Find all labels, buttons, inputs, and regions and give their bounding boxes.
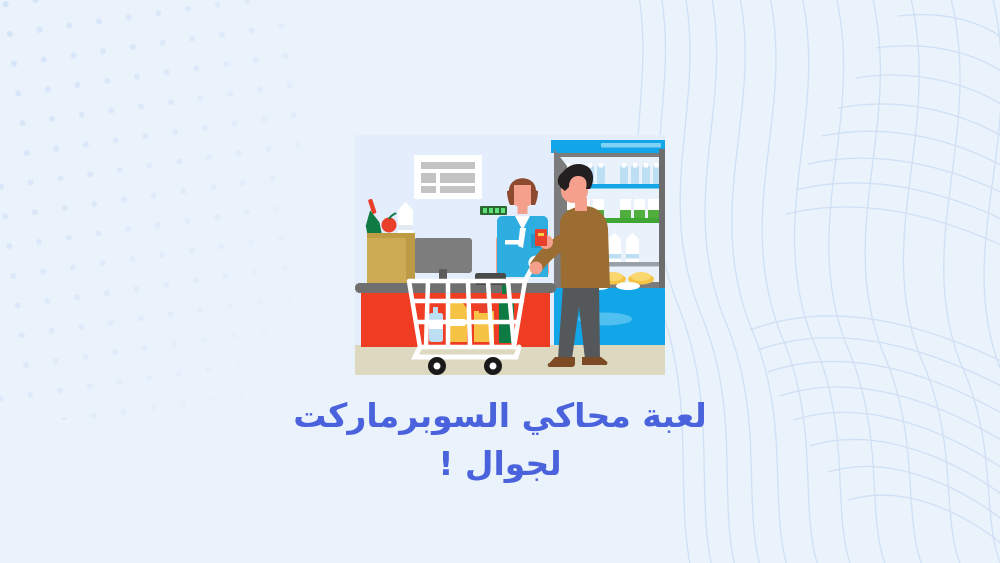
store-floor <box>355 345 665 375</box>
led-price-display <box>480 206 507 215</box>
headline-line-2: لجوال ! <box>150 440 850 488</box>
poster-canvas: لعبة محاكي السوبرماركت لجوال ! <box>0 0 1000 563</box>
supermarket-checkout-scene <box>355 135 665 375</box>
headline-line-1: لعبة محاكي السوبرماركت <box>150 392 850 440</box>
held-product <box>535 229 547 246</box>
dot-grid-pattern <box>0 0 300 420</box>
cashier-nametag <box>505 240 519 245</box>
wall-sign <box>414 155 482 199</box>
page-title: لعبة محاكي السوبرماركت لجوال ! <box>150 392 850 488</box>
